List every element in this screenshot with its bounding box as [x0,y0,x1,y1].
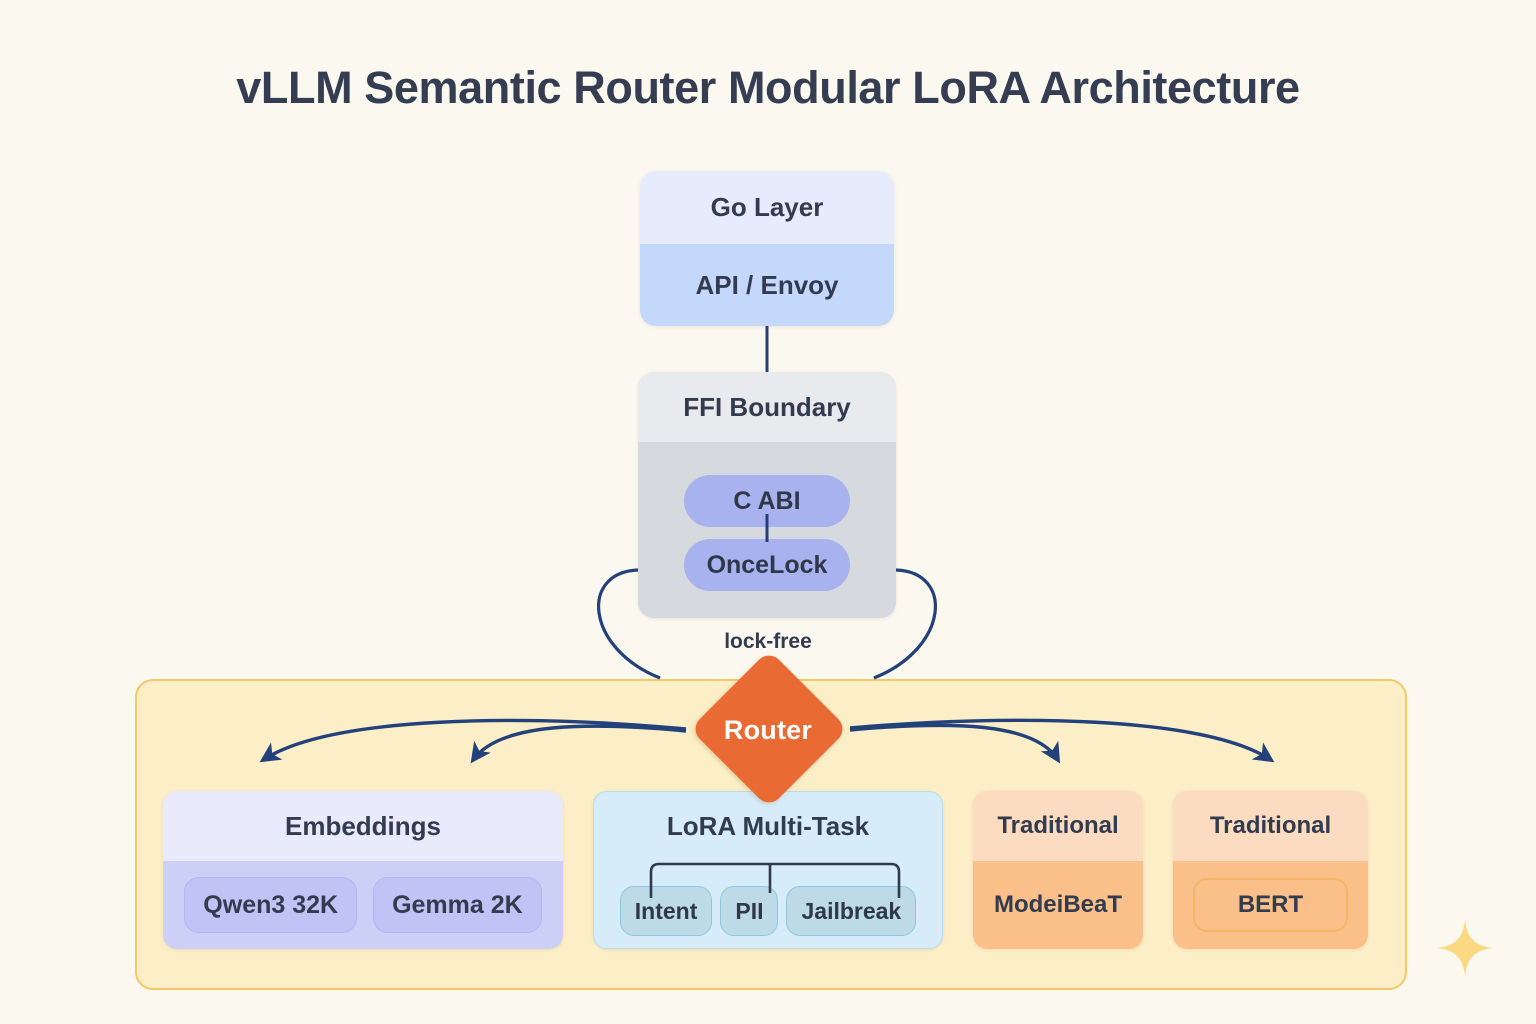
lora-pill-jailbreak[interactable]: Jailbreak [786,886,916,936]
node-traditional-modelbeat[interactable]: Traditional ModeiBeaT [973,791,1143,949]
sparkle-icon [1433,916,1497,980]
node-traditional-bert[interactable]: Traditional BERT [1173,791,1368,949]
traditional-modelbeat-header: Traditional [973,791,1143,861]
traditional-modelbeat-body: ModeiBeaT [973,861,1143,949]
node-ffi-boundary[interactable]: FFI Boundary C ABI OnceLock [638,372,896,618]
ffi-boundary-body: C ABI OnceLock [638,442,896,618]
traditional-bert-header: Traditional [1173,791,1368,861]
ffi-pill-c-abi[interactable]: C ABI [684,475,850,527]
node-router[interactable]: Router [682,673,854,787]
lora-body: Intent PII Jailbreak [594,860,942,948]
node-embeddings[interactable]: Embeddings Qwen3 32K Gemma 2K [163,791,563,949]
embeddings-body: Qwen3 32K Gemma 2K [163,861,563,949]
go-layer-header: Go Layer [640,171,894,244]
page-title: vLLM Semantic Router Modular LoRA Archit… [0,62,1536,114]
node-go-layer[interactable]: Go Layer API / Envoy [640,171,894,326]
diagram-canvas: vLLM Semantic Router Modular LoRA Archit… [0,0,1536,1024]
router-label: Router [682,673,854,787]
ffi-pill-oncelock[interactable]: OnceLock [684,539,850,591]
embeddings-header: Embeddings [163,791,563,861]
go-layer-body: API / Envoy [640,244,894,326]
ffi-boundary-header: FFI Boundary [638,372,896,442]
embeddings-pill-qwen3[interactable]: Qwen3 32K [184,877,357,933]
lora-pill-intent[interactable]: Intent [620,886,713,936]
node-lora-multi-task[interactable]: LoRA Multi-Task Intent PII Jailbreak [593,791,943,949]
lora-pill-pii[interactable]: PII [720,886,778,936]
edge-label-lock-free: lock-free [688,630,848,654]
embeddings-pill-gemma[interactable]: Gemma 2K [373,877,542,933]
traditional-bert-body: BERT [1173,861,1368,949]
traditional-pill-bert[interactable]: BERT [1193,878,1348,932]
